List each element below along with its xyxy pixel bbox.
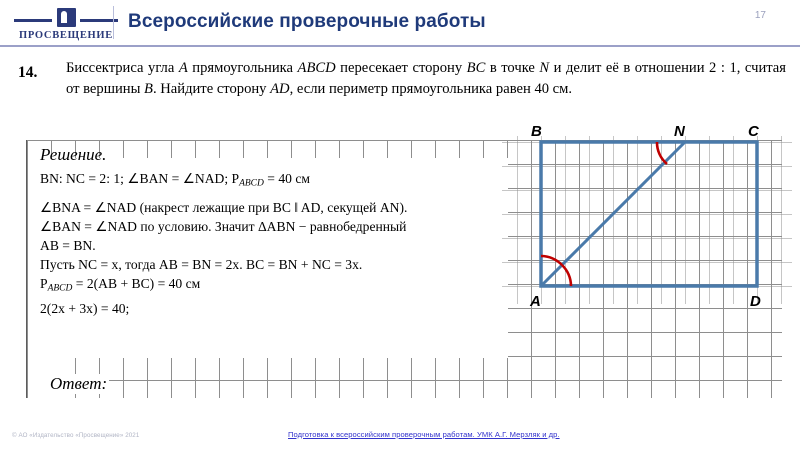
label-N: N [674,126,686,140]
label-A: A [529,293,541,310]
problem-statement: 14. Биссектриса угла A прямоугольника AB… [18,58,786,99]
page-number: 17 [755,10,766,21]
footer-copyright: © АО «Издательство «Просвещение» 2021 [12,432,139,439]
problem-var-N: N [539,60,549,76]
problem-seg-1: Биссектриса угла [66,60,179,76]
answer-label: Ответ: [48,374,109,394]
problem-number: 14. [18,64,37,82]
page-title: Всероссийские проверочные работы [128,11,486,33]
solution-line-2: ∠BNA = ∠NAD (накрест лежащие при BC ǁ AD… [40,198,510,217]
problem-var-B: B [144,81,153,97]
logo-mark [12,8,120,28]
problem-var-BC: BC [467,60,486,76]
solution-line-1-text: BN: NC = 2: 1; ∠BAN = ∠NAD; P [40,171,239,186]
problem-body: Биссектриса угла A прямоугольника ABCD п… [66,58,786,99]
problem-seg-2: прямоугольника [188,60,298,76]
solution-line-6: PABCD = 2(AB + BC) = 40 см [40,274,510,298]
footer-link[interactable]: Подготовка к всероссийским проверочным р… [288,430,560,439]
label-C: C [748,126,760,140]
solution-line-6-tail: = 2(AB + BC) = 40 см [72,276,200,291]
problem-var-A: A [179,60,188,76]
header-divider [113,6,114,39]
label-B: B [531,126,542,140]
solution-line-3: ∠BAN = ∠NAD по условию. Значит ΔABN − ра… [40,217,510,236]
solution-line-6-sub: ABCD [48,284,73,294]
logo-rule-left [14,19,52,22]
solution-line-7: 2(2x + 3x) = 40; [40,299,510,318]
header-rule [0,45,800,47]
problem-var-ABCD: ABCD [298,60,336,76]
book-icon [57,8,76,27]
solution-title: Решение. [40,144,510,166]
slide-root: ПРОСВЕЩЕНИЕ Всероссийские проверочные ра… [0,0,800,450]
solution-line-1-sub: ABCD [239,178,264,188]
problem-var-AD: AD [270,81,289,97]
solution-text: Решение. BN: NC = 2: 1; ∠BAN = ∠NAD; PAB… [40,144,510,318]
problem-seg-3: пересекает сторону [336,60,467,76]
logo-text: ПРОСВЕЩЕНИЕ [12,29,120,42]
solution-line-1-tail: = 40 см [264,171,310,186]
publisher-logo: ПРОСВЕЩЕНИЕ [12,8,120,42]
slide-header: ПРОСВЕЩЕНИЕ Всероссийские проверочные ра… [0,0,800,46]
solution-line-6-text: P [40,276,48,291]
problem-seg-4: в точке [485,60,539,76]
solution-line-5: Пусть NC = x, тогда AB = BN = 2x. BC = B… [40,255,510,274]
geometry-figure: B N C A D [502,126,792,311]
label-D: D [750,293,761,310]
solution-line-4: AB = BN. [40,236,510,255]
problem-seg-7: , если периметр прямоугольника равен 40 … [290,81,572,97]
solution-line-1: BN: NC = 2: 1; ∠BAN = ∠NAD; PABCD = 40 с… [40,169,510,193]
problem-seg-6: . Найдите сторону [153,81,270,97]
